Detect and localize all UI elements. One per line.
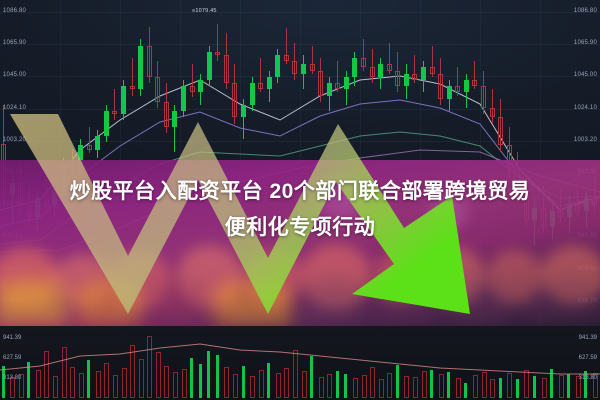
headline-line-1: 炒股平台入配资平台 20个部门联合部署跨境贸易 xyxy=(0,174,600,210)
price-axis-label: 1086.80 xyxy=(3,8,26,14)
volume-axis-label: 313.80 xyxy=(579,375,597,381)
headline-text: 炒股平台入配资平台 20个部门联合部署跨境贸易 便利化专项行动 xyxy=(0,174,600,246)
price-axis-label: 1045.00 xyxy=(574,72,597,78)
price-axis-label: 1065.90 xyxy=(3,40,26,46)
price-axis-label: 1065.90 xyxy=(574,40,597,46)
price-axis-label: 1086.80 xyxy=(574,8,597,14)
high-marker-annotation: ≡1079.45 xyxy=(192,8,217,14)
headline-line-2: 便利化专项行动 xyxy=(0,210,600,246)
price-axis-label: 1024.10 xyxy=(3,105,26,111)
price-axis-label: 1024.10 xyxy=(574,105,597,111)
screenshot-root: ≡1079.45 1086.801065.901045.001024.10100… xyxy=(0,0,600,400)
volume-axis-label: 313.80 xyxy=(3,375,21,381)
price-axis-label: 1045.00 xyxy=(3,72,26,78)
